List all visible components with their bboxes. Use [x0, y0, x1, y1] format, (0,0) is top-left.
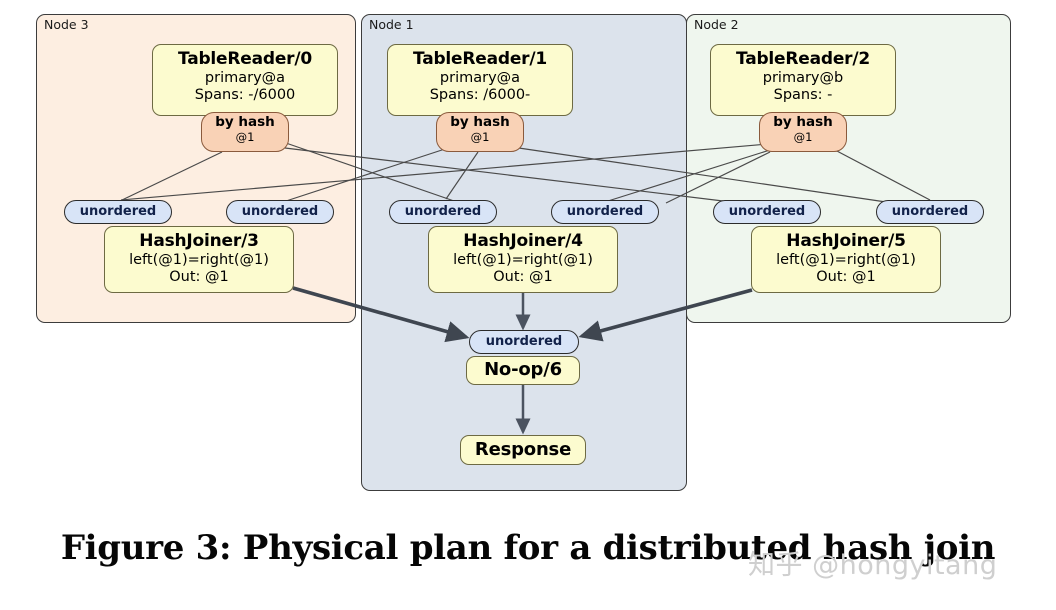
- processor-box-hashjoiner-4[interactable]: HashJoiner/4 left(@1)=right(@1) Out: @1: [428, 226, 618, 293]
- stream-pill-unordered-5[interactable]: unordered: [876, 200, 984, 224]
- processor-table: primary@a: [153, 70, 337, 88]
- stream-pill-unordered-4[interactable]: unordered: [713, 200, 821, 224]
- figure-canvas: Node 3 Node 1 Node 2: [0, 0, 1056, 610]
- processor-box-tablereader-2[interactable]: TableReader/2 primary@b Spans: -: [710, 44, 896, 116]
- processor-title: HashJoiner/5: [752, 231, 940, 252]
- stream-pill-unordered-0[interactable]: unordered: [64, 200, 172, 224]
- processor-output: Out: @1: [105, 269, 293, 287]
- node-panel-label: Node 3: [44, 18, 89, 32]
- output-router-by-hash-2[interactable]: by hash @1: [759, 112, 847, 152]
- router-column: @1: [760, 131, 846, 144]
- processor-title: HashJoiner/3: [105, 231, 293, 252]
- processor-title: Response: [461, 439, 585, 461]
- processor-box-noop-6[interactable]: No-op/6: [466, 356, 580, 385]
- stream-pill-unordered-1[interactable]: unordered: [226, 200, 334, 224]
- output-router-by-hash-0[interactable]: by hash @1: [201, 112, 289, 152]
- stream-pill-label: unordered: [80, 204, 157, 219]
- processor-box-hashjoiner-5[interactable]: HashJoiner/5 left(@1)=right(@1) Out: @1: [751, 226, 941, 293]
- stream-pill-unordered-final[interactable]: unordered: [469, 330, 579, 354]
- stream-pill-unordered-3[interactable]: unordered: [551, 200, 659, 224]
- stream-pill-label: unordered: [242, 204, 319, 219]
- stream-pill-label: unordered: [405, 204, 482, 219]
- processor-predicate: left(@1)=right(@1): [429, 252, 617, 270]
- processor-table: primary@b: [711, 70, 895, 88]
- processor-spans: Spans: -/6000: [153, 87, 337, 105]
- node-panel-label: Node 2: [694, 18, 739, 32]
- processor-predicate: left(@1)=right(@1): [105, 252, 293, 270]
- processor-spans: Spans: -: [711, 87, 895, 105]
- processor-spans: Spans: /6000-: [388, 87, 572, 105]
- processor-box-hashjoiner-3[interactable]: HashJoiner/3 left(@1)=right(@1) Out: @1: [104, 226, 294, 293]
- processor-table: primary@a: [388, 70, 572, 88]
- stream-pill-label: unordered: [567, 204, 644, 219]
- processor-predicate: left(@1)=right(@1): [752, 252, 940, 270]
- processor-title: TableReader/0: [153, 49, 337, 70]
- processor-output: Out: @1: [752, 269, 940, 287]
- processor-title: TableReader/1: [388, 49, 572, 70]
- stream-pill-label: unordered: [892, 204, 969, 219]
- stream-pill-label: unordered: [486, 334, 563, 349]
- router-title: by hash: [202, 115, 288, 131]
- processor-box-response[interactable]: Response: [460, 435, 586, 465]
- router-title: by hash: [437, 115, 523, 131]
- processor-output: Out: @1: [429, 269, 617, 287]
- stream-pill-label: unordered: [729, 204, 806, 219]
- processor-title: No-op/6: [467, 359, 579, 381]
- node-panel-label: Node 1: [369, 18, 414, 32]
- processor-box-tablereader-1[interactable]: TableReader/1 primary@a Spans: /6000-: [387, 44, 573, 116]
- stream-pill-unordered-2[interactable]: unordered: [389, 200, 497, 224]
- processor-title: TableReader/2: [711, 49, 895, 70]
- router-column: @1: [202, 131, 288, 144]
- watermark-text: 知乎 @hongyitang: [748, 543, 997, 582]
- processor-box-tablereader-0[interactable]: TableReader/0 primary@a Spans: -/6000: [152, 44, 338, 116]
- router-title: by hash: [760, 115, 846, 131]
- router-column: @1: [437, 131, 523, 144]
- processor-title: HashJoiner/4: [429, 231, 617, 252]
- output-router-by-hash-1[interactable]: by hash @1: [436, 112, 524, 152]
